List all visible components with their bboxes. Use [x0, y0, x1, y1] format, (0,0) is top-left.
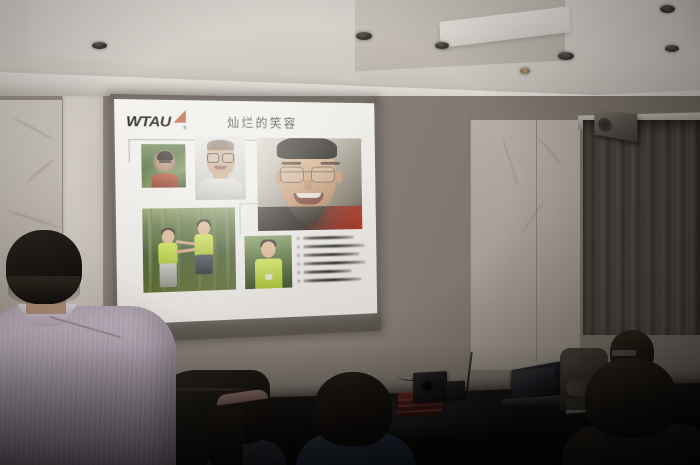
torso	[296, 434, 416, 465]
recessed-downlight	[660, 5, 675, 13]
shirt-collar	[336, 434, 372, 446]
wtau-logo: WTAU ®	[128, 111, 192, 133]
recessed-downlight	[665, 45, 679, 52]
wall-panel-seam	[62, 98, 63, 342]
slide-text-block	[303, 235, 366, 288]
torso	[561, 424, 700, 465]
recessed-downlight	[435, 42, 449, 49]
table-reflection	[330, 394, 510, 441]
recessed-downlight	[558, 52, 574, 60]
recessed-downlight	[92, 42, 107, 49]
wall-panel-seam	[536, 118, 537, 362]
logo-swoosh-icon	[173, 110, 186, 123]
projection-screen: WTAU ® 灿烂的笑容	[110, 94, 381, 344]
laptop-keyboard[interactable]	[503, 395, 565, 408]
photo-man-with-glasses-outdoors	[141, 144, 186, 188]
right-marble-panel	[470, 120, 580, 370]
hair	[205, 410, 243, 465]
papers-on-table	[566, 396, 608, 414]
slide-rule	[239, 203, 240, 234]
photo-young-man-portrait	[195, 136, 246, 201]
recessed-downlight	[356, 32, 372, 40]
torso	[207, 440, 287, 465]
eyeglasses-icon	[207, 153, 234, 161]
eyeglasses-icon	[280, 167, 335, 181]
slide-title: 灿烂的笑容	[227, 113, 298, 132]
left-wall-pillar	[62, 96, 104, 346]
wall-panel-seam	[470, 118, 471, 370]
photo-smiling-man-large	[257, 138, 363, 231]
registered-trademark-icon: ®	[183, 126, 187, 132]
slide-rule	[239, 203, 257, 204]
vertical-blinds[interactable]	[583, 120, 700, 335]
wall-panel-seam	[103, 96, 104, 344]
photo-volunteers-bamboo-forest	[142, 207, 236, 292]
presentation-slide: WTAU ® 灿烂的笑容	[114, 99, 377, 325]
volunteer-jumping	[192, 221, 219, 272]
conference-room-photo: WTAU ® 灿烂的笑容	[0, 0, 700, 465]
volunteer-standing	[156, 230, 182, 288]
photo-volunteer-green-vest	[244, 235, 292, 289]
attendee-woman-headband	[205, 388, 287, 465]
ceiling-smoke-detector-icon	[520, 68, 530, 74]
slide-corner-rule	[128, 139, 129, 163]
logo-wordmark: WTAU	[126, 113, 171, 130]
head	[215, 388, 271, 444]
